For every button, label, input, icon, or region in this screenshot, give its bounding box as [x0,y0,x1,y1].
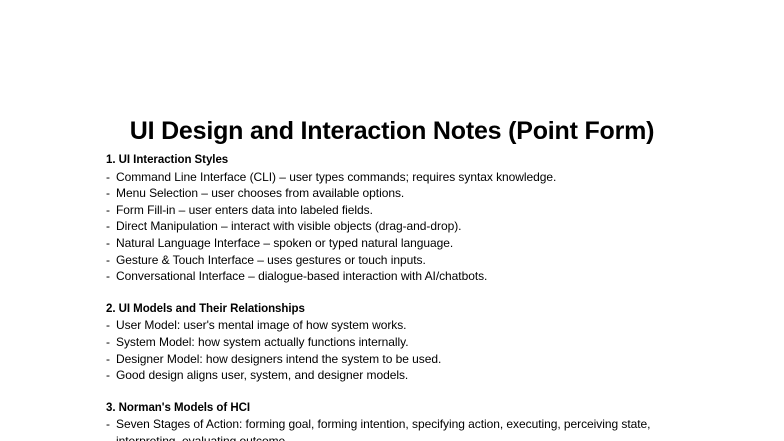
section-heading: 2. UI Models and Their Relationships [106,301,698,318]
bullet-list: -Seven Stages of Action: forming goal, f… [106,416,698,441]
bullet-dash-icon: - [106,218,110,235]
list-item-text: Good design aligns user, system, and des… [116,368,408,382]
list-item: -User Model: user's mental image of how … [106,317,698,334]
list-item-text: Conversational Interface – dialogue-base… [116,269,487,283]
list-item: -System Model: how system actually funct… [106,334,698,351]
section-heading: 3. Norman's Models of HCI [106,400,698,417]
list-item-text: Gesture & Touch Interface – uses gesture… [116,253,426,267]
list-item: -Good design aligns user, system, and de… [106,367,698,384]
list-item: -Form Fill-in – user enters data into la… [106,202,698,219]
bullet-dash-icon: - [106,202,110,219]
list-item-text: Designer Model: how designers intend the… [116,352,441,366]
bullet-dash-icon: - [106,185,110,202]
list-item-text: Seven Stages of Action: forming goal, fo… [116,417,650,441]
list-item: -Seven Stages of Action: forming goal, f… [106,416,698,441]
page-title: UI Design and Interaction Notes (Point F… [0,116,784,146]
bullet-dash-icon: - [106,317,110,334]
list-item: -Conversational Interface – dialogue-bas… [106,268,698,285]
bullet-dash-icon: - [106,416,110,433]
list-item: -Command Line Interface (CLI) – user typ… [106,169,698,186]
section-heading: 1. UI Interaction Styles [106,152,698,169]
bullet-dash-icon: - [106,235,110,252]
list-item: -Menu Selection – user chooses from avai… [106,185,698,202]
bullet-list: -User Model: user's mental image of how … [106,317,698,383]
section-1: 1. UI Interaction Styles -Command Line I… [106,152,698,285]
section-2: 2. UI Models and Their Relationships -Us… [106,301,698,384]
document-page: UI Design and Interaction Notes (Point F… [0,0,784,441]
list-item-text: User Model: user's mental image of how s… [116,318,406,332]
bullet-dash-icon: - [106,334,110,351]
bullet-dash-icon: - [106,252,110,269]
list-item-text: Command Line Interface (CLI) – user type… [116,170,556,184]
list-item-text: Direct Manipulation – interact with visi… [116,219,461,233]
bullet-dash-icon: - [106,169,110,186]
list-item-text: System Model: how system actually functi… [116,335,408,349]
list-item: -Gesture & Touch Interface – uses gestur… [106,252,698,269]
bullet-dash-icon: - [106,351,110,368]
list-item-text: Natural Language Interface – spoken or t… [116,236,453,250]
bullet-dash-icon: - [106,367,110,384]
list-item: -Natural Language Interface – spoken or … [106,235,698,252]
bullet-dash-icon: - [106,268,110,285]
list-item: -Direct Manipulation – interact with vis… [106,218,698,235]
list-item-text: Menu Selection – user chooses from avail… [116,186,404,200]
list-item-text: Form Fill-in – user enters data into lab… [116,203,373,217]
list-item: -Designer Model: how designers intend th… [106,351,698,368]
section-3: 3. Norman's Models of HCI -Seven Stages … [106,400,698,441]
document-body: 1. UI Interaction Styles -Command Line I… [106,152,698,441]
bullet-list: -Command Line Interface (CLI) – user typ… [106,169,698,285]
